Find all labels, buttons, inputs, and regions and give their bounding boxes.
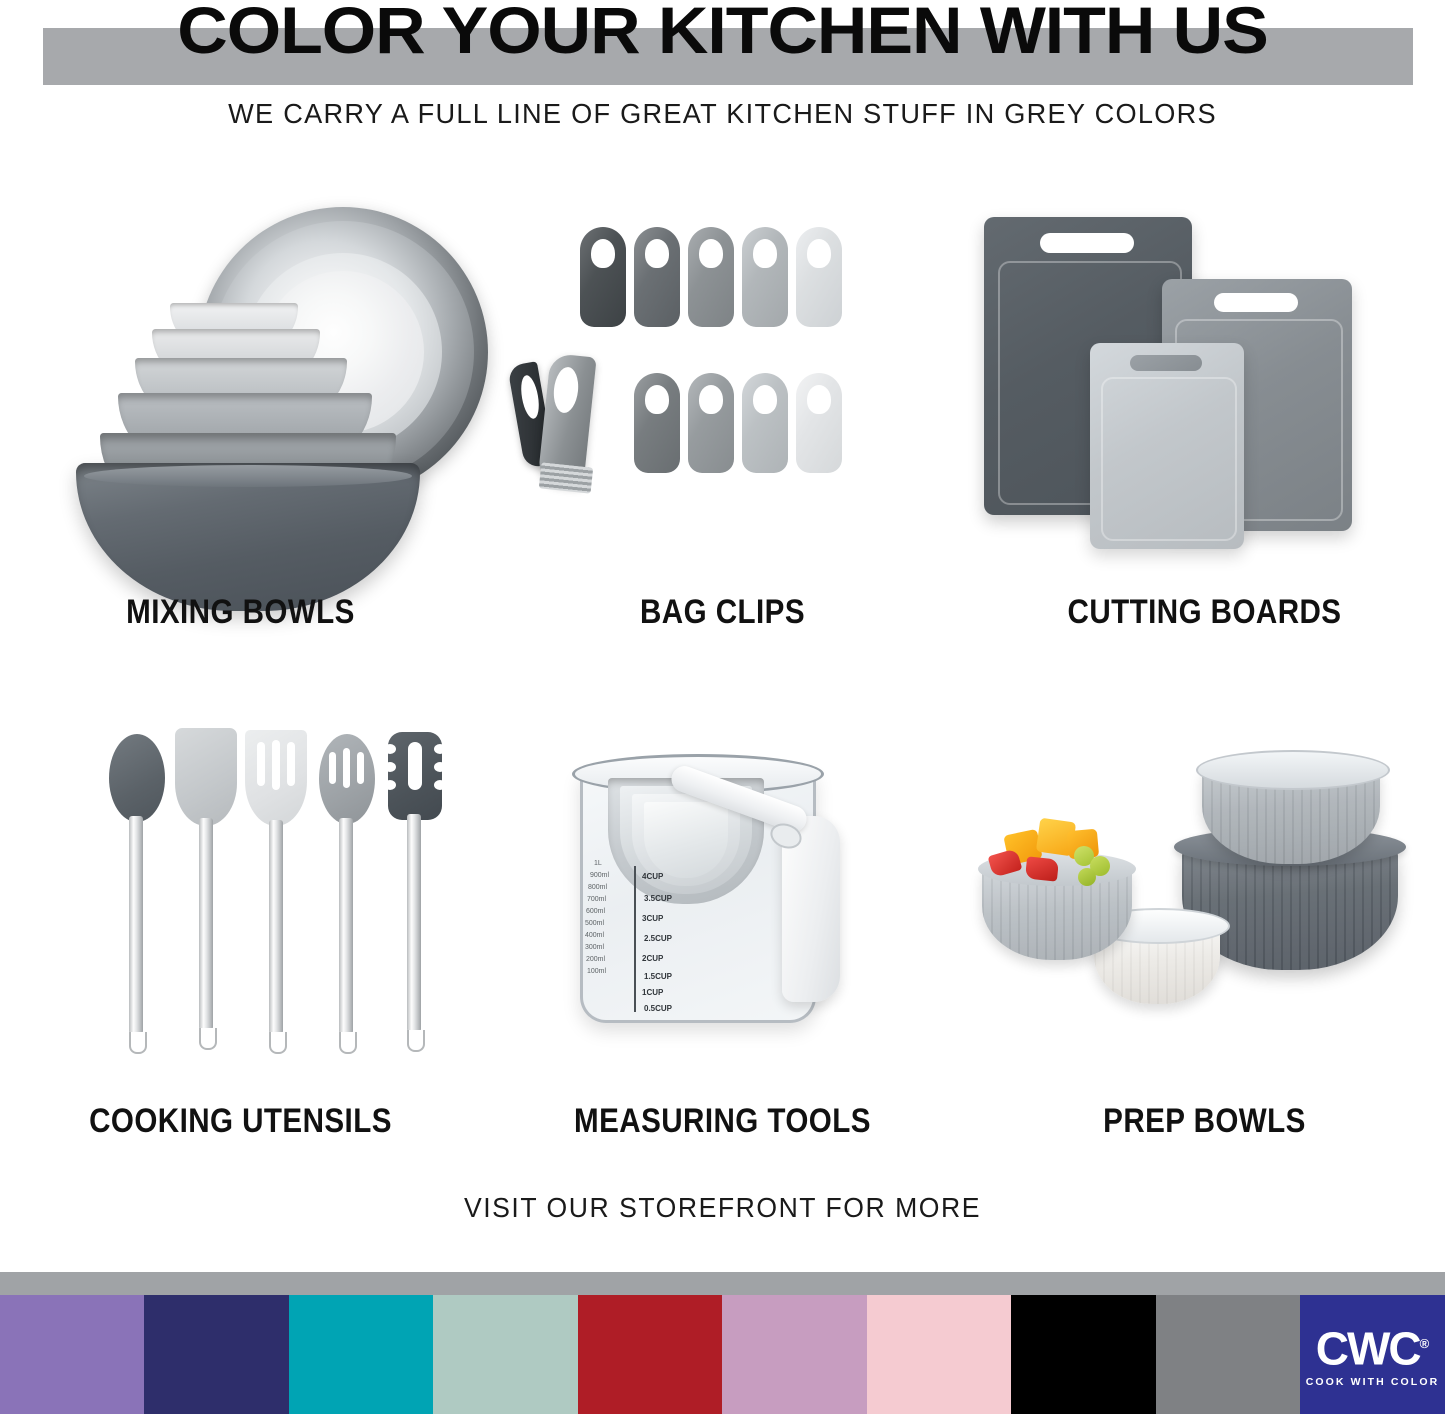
utensil-spatula [174, 728, 238, 1064]
swatch-teal [289, 1295, 433, 1414]
storefront-cta[interactable]: VISIT OUR STOREFRONT FOR MORE [36, 1192, 1409, 1224]
bag-clip-8 [742, 373, 788, 473]
page-subtitle: WE CARRY A FULL LINE OF GREAT KITCHEN ST… [22, 98, 1424, 130]
header: COLOR YOUR KITCHEN WITH US WE CARRY A FU… [0, 0, 1445, 150]
bag-clip-4 [742, 227, 788, 327]
product-cell-mixing-bowls[interactable]: MIXING BOWLS [0, 195, 481, 645]
prep-bowls-image [964, 720, 1445, 1100]
product-label-cooking-utensils: COOKING UTENSILS [31, 1102, 449, 1141]
product-label-mixing-bowls: MIXING BOWLS [31, 593, 449, 632]
utensil-pasta-server [382, 732, 446, 1064]
swatch-grey [1156, 1295, 1300, 1414]
logo-text: CWC [1316, 1322, 1420, 1374]
prep-bowl-medium-lid [1196, 750, 1390, 790]
measuring-tools-image: 1L 900ml 800ml 700ml 600ml 500ml 400ml 3… [482, 720, 963, 1100]
bag-clip-1 [580, 227, 626, 327]
jug-scale-line [634, 866, 636, 1012]
color-swatch-strip: CWC® COOK WITH COLOR [0, 1295, 1445, 1414]
swatch-orchid [722, 1295, 867, 1414]
brand-logo[interactable]: CWC® COOK WITH COLOR [1300, 1295, 1445, 1414]
cutting-board-small [1090, 343, 1244, 549]
product-label-prep-bowls: PREP BOWLS [995, 1102, 1413, 1141]
product-label-cutting-boards: CUTTING BOARDS [995, 593, 1413, 632]
mixing-bowl-xxl-rim [84, 465, 412, 487]
swatch-sage [433, 1295, 578, 1414]
bag-clip-3 [688, 227, 734, 327]
product-cell-cutting-boards[interactable]: CUTTING BOARDS [964, 195, 1445, 645]
utensil-spoon [104, 734, 168, 1064]
bag-clip-9 [796, 373, 842, 473]
product-label-measuring-tools: MEASURING TOOLS [513, 1102, 931, 1141]
bag-clip-side-grip [539, 462, 593, 493]
product-cell-measuring-tools[interactable]: 1L 900ml 800ml 700ml 600ml 500ml 400ml 3… [482, 720, 963, 1150]
swatch-navy [144, 1295, 289, 1414]
footer-grey-bar [0, 1272, 1445, 1295]
utensil-slotted-spoon [314, 734, 378, 1064]
swatch-blush [867, 1295, 1011, 1414]
bag-clips-image [482, 195, 963, 575]
product-cell-cooking-utensils[interactable]: COOKING UTENSILS [0, 720, 481, 1150]
swatch-purple [0, 1295, 144, 1414]
bag-clip-5 [796, 227, 842, 327]
bag-clip-7 [688, 373, 734, 473]
page-title: COLOR YOUR KITCHEN WITH US [0, 0, 1445, 68]
product-row-2: COOKING UTENSILS 1L 900ml 800ml 700ml 60… [0, 720, 1445, 1150]
mixing-bowls-image [0, 195, 481, 575]
utensil-slotted-turner [244, 730, 308, 1064]
product-cell-prep-bowls[interactable]: PREP BOWLS [964, 720, 1445, 1150]
product-row-1: MIXING BOWLS [0, 195, 1445, 645]
product-cell-bag-clips[interactable]: BAG CLIPS [482, 195, 963, 645]
cooking-utensils-image [0, 720, 481, 1100]
swatch-crimson [578, 1295, 722, 1414]
logo-wordmark: CWC® [1316, 1321, 1429, 1371]
fruit-grape-3 [1078, 868, 1096, 886]
swatch-black [1011, 1295, 1156, 1414]
bag-clip-2 [634, 227, 680, 327]
logo-tagline: COOK WITH COLOR [1306, 1376, 1440, 1388]
fruit-strawberry-2 [1025, 856, 1059, 881]
bag-clip-6 [634, 373, 680, 473]
product-label-bag-clips: BAG CLIPS [513, 593, 931, 632]
cutting-boards-image [964, 195, 1445, 575]
registered-trademark-icon: ® [1420, 1336, 1430, 1351]
